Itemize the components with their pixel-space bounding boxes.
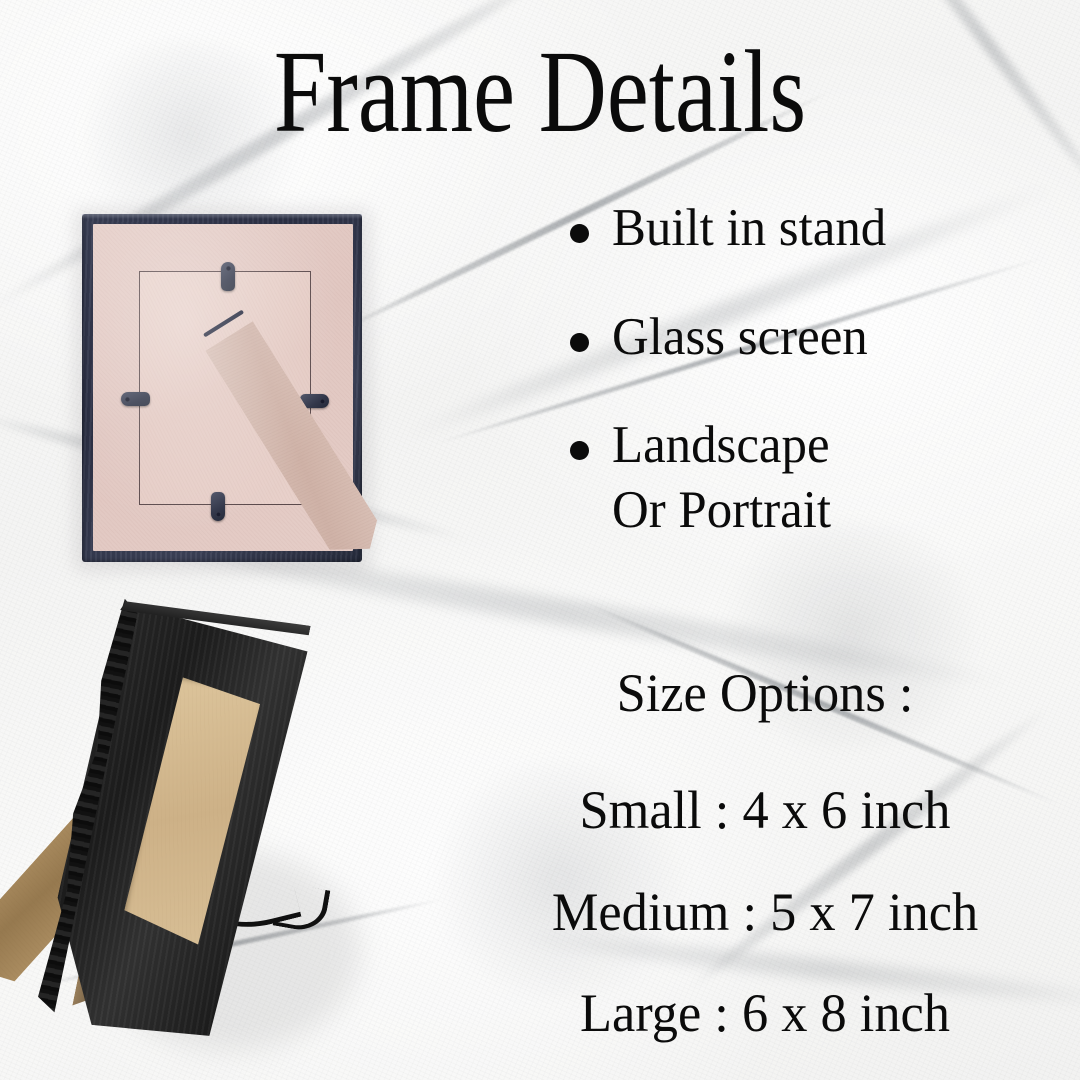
frame-clip-right-icon [300, 394, 329, 408]
frame-clip-left-icon [121, 392, 150, 406]
page-title: Frame Details [108, 32, 972, 152]
frame-back-kickstand-hinge [203, 310, 244, 338]
bullet-dot-icon [570, 224, 589, 243]
frame-clip-bottom-icon [211, 492, 225, 521]
list-item: Built in stand [570, 196, 1040, 261]
frame-back-backing-board [93, 224, 353, 551]
feature-label: Landscape Or Portrait [612, 413, 831, 542]
size-option-small: Small : 4 x 6 inch [469, 781, 1061, 840]
frame-back-inner-panel [139, 271, 311, 505]
size-option-medium: Medium : 5 x 7 inch [469, 883, 1061, 942]
size-options-section: Size Options : Small : 4 x 6 inch Medium… [460, 664, 1070, 1044]
feature-list: Built in stand Glass screen Landscape Or… [570, 196, 1040, 587]
screw-icon [216, 512, 221, 517]
list-item: Glass screen [570, 305, 1040, 370]
bullet-dot-icon [570, 333, 589, 352]
frame-back-photo [82, 214, 362, 562]
size-options-heading: Size Options : [469, 664, 1061, 723]
frame-standing-photo [60, 600, 460, 1070]
size-option-large: Large : 6 x 8 inch [469, 984, 1061, 1043]
frame-clip-top-icon [221, 262, 235, 291]
bullet-dot-icon [570, 441, 589, 460]
feature-label: Built in stand [612, 196, 886, 261]
list-item: Landscape Or Portrait [570, 413, 1040, 542]
feature-label: Glass screen [612, 305, 868, 370]
screw-icon [320, 399, 325, 404]
screw-icon [226, 266, 231, 271]
infographic-canvas: Frame Details Built i [0, 0, 1080, 1080]
screw-icon [125, 397, 130, 402]
